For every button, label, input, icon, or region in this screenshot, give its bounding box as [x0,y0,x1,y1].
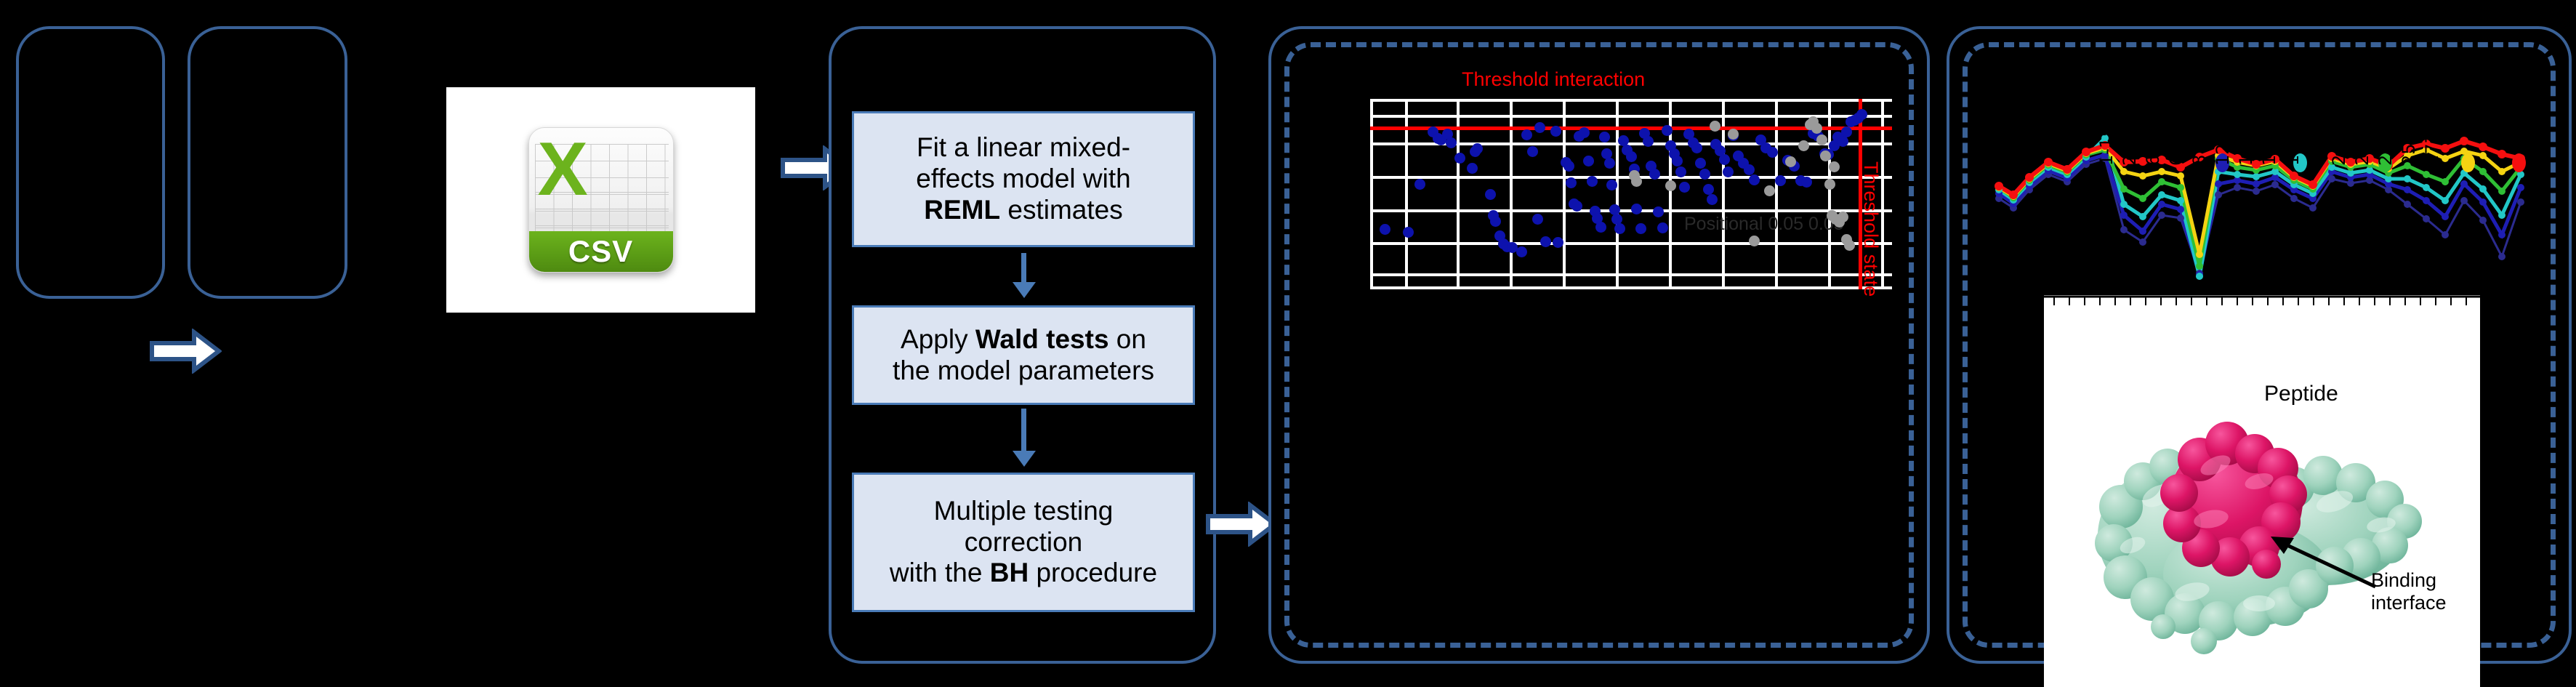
scatter-plot-area: Positional 0.05 0.05 [1370,99,1892,289]
line-marker [2479,168,2487,175]
peptide-tick-label: 241-257 [2375,93,2396,166]
step-bh-label: Multiple testingcorrectionwith the BH pr… [890,496,1157,590]
scatter-point [1749,174,1760,185]
line-marker [2044,158,2053,166]
peptide-tick-label: 167-180 [2282,93,2303,166]
line-marker [2253,180,2260,188]
volcano-plot: Threshold interaction Positional 0.05 0.… [1268,26,1930,664]
scatter-point [1635,223,1646,234]
line-marker [2120,168,2128,175]
scatter-point [1785,156,1796,167]
line-marker [2479,142,2487,151]
line-marker [2290,172,2298,180]
line-marker [2158,212,2165,219]
line-marker [2120,212,2128,219]
scatter-point [1446,137,1457,148]
connector-wald-to-bh [1021,409,1026,452]
binding-interface-line2: interface [2371,592,2447,614]
line-marker [2517,184,2524,191]
line-marker [2177,206,2184,213]
line-marker [2177,172,2184,180]
peptide-tick-label: 135-144 [2236,93,2256,166]
line-marker [2442,197,2449,204]
peptide-tick-label: 67-75 [2166,115,2186,166]
line-marker [2498,212,2505,219]
scatter-point [1566,177,1577,188]
csv-label: CSV [568,234,633,269]
scatter-point [1550,126,1561,137]
scatter-point [1841,126,1852,137]
line-marker [2309,204,2317,212]
line-marker [2404,201,2411,208]
scatter-faint-text: Positional 0.05 0.05 [1684,214,1844,235]
line-marker [2215,180,2222,188]
step-wald-box[interactable]: Apply Wald tests onthe model parameters [852,305,1195,405]
line-marker [2139,213,2146,220]
scatter-point [1534,122,1545,133]
peptide-tick-label: 200-214 [2329,93,2349,166]
step-wald-label: Apply Wald tests onthe model parameters [893,324,1154,387]
csv-label-band: CSV [529,231,673,272]
csv-file-icon: X CSV [528,127,674,273]
panel-csv [188,26,347,299]
line-marker [2442,231,2449,238]
scatter-point [1719,154,1730,165]
line-marker [2158,201,2165,208]
scatter-point [1472,143,1483,154]
gridline-h [1370,99,1892,102]
scatter-point [1672,156,1683,166]
scatter-point [1485,189,1496,200]
connector-reml-to-wald [1021,253,1026,284]
scatter-point [1490,216,1501,227]
line-marker [2442,155,2449,162]
threshold-interaction-label: Threshold interaction [1462,68,1645,91]
scatter-point [1653,206,1664,217]
line-marker [2498,253,2505,260]
line-marker [2479,152,2487,159]
line-marker [2442,178,2449,185]
binding-interface-annotation: Binding interface [2371,569,2447,614]
scatter-point [1583,156,1594,166]
line-marker [2253,173,2260,180]
scatter-point [1662,125,1673,136]
line-marker [2234,184,2241,191]
line-marker [2120,226,2128,233]
line-marker [2177,184,2184,191]
arrow-to-csv [149,329,222,374]
line-marker [2158,178,2165,185]
peptide-tick-label: 258-266 [2399,93,2419,166]
excel-x-icon: X [538,134,588,206]
scatter-point [1710,121,1720,132]
scatter-point [1838,136,1848,147]
line-marker [2009,190,2018,199]
scatter-point [1691,142,1702,153]
line-marker [2460,137,2468,145]
line-marker [2139,228,2146,235]
scatter-point [1816,134,1827,145]
panel-input [16,26,165,299]
line-marker [2328,175,2335,182]
line-marker [2404,186,2411,193]
scatter-point [1744,164,1755,175]
scatter-point [1604,158,1615,169]
line-marker [2479,198,2487,206]
scatter-point [1767,147,1778,158]
arrow-model-to-results [1205,502,1278,547]
line-marker [2498,231,2505,238]
scatter-point [1414,179,1425,190]
line-marker [2423,197,2430,204]
line-marker [2120,201,2128,208]
scatter-point [1579,127,1590,138]
scatter-point [1643,136,1654,147]
line-marker [2423,184,2430,191]
line-marker [2423,171,2430,178]
scatter-point [1527,146,1538,157]
line-marker [2139,172,2146,180]
scatter-point [1521,129,1532,140]
scatter-point [1665,180,1676,191]
scatter-point [1679,182,1690,193]
scatter-point [1657,222,1668,233]
peptide-tick-label: 277-284 [2422,93,2442,166]
line-marker [2460,180,2468,188]
line-marker [2025,173,2034,182]
line-marker [2498,188,2505,195]
scatter-point [1532,214,1543,225]
line-marker [2423,215,2430,222]
line-marker [2196,273,2203,280]
line-marker [2158,191,2165,198]
scatter-point [1703,184,1714,195]
scatter-point [1467,163,1478,174]
protein-structure-image [2076,409,2454,659]
line-marker [2497,150,2506,158]
threshold-state-label: Threshold state [1859,161,1882,297]
step-reml-label: Fit a linear mixed-effects model withREM… [916,132,1130,226]
binding-interface-line1: Binding [2371,569,2447,592]
line-marker [2158,168,2165,175]
scatter-point [1571,201,1582,212]
line-marker [2498,168,2505,175]
scatter-point [1764,185,1775,196]
scatter-point [1540,236,1551,247]
peptide-tick-label: 184-199 [2306,93,2326,166]
scatter-point [1829,161,1840,172]
scatter-point [1587,176,1598,187]
line-marker [2139,195,2146,202]
scatter-point [1749,236,1760,246]
scatter-point [1695,158,1706,169]
line-marker [2309,180,2317,189]
line-marker [2442,213,2449,220]
scatter-point [1838,212,1848,222]
line-marker [2082,148,2090,156]
scatter-point [1811,123,1822,134]
line-marker [2479,185,2487,193]
gridline-h [1370,286,1892,289]
line-marker [2234,171,2241,178]
peptide-tick-label: 28-44 [2120,115,2140,166]
line-marker [2196,251,2203,258]
step-reml-box[interactable]: Fit a linear mixed-effects model withREM… [852,111,1195,247]
csv-file-card: X CSV [446,87,755,313]
peptide-tick-label: 218-237 [2352,93,2372,166]
scatter-point [1599,132,1610,142]
peptide-tick-label: 81-101 [2189,104,2210,166]
line-marker [2120,185,2128,193]
scatter-point [1631,204,1642,214]
scatter-point [1707,194,1718,205]
line-marker [1995,182,2003,190]
step-bh-box[interactable]: Multiple testingcorrectionwith the BH pr… [852,473,1195,612]
line-marker [2177,197,2184,204]
scatter-point [1844,240,1855,251]
peptide-tick-label: 1-15 [2096,126,2117,166]
scatter-point [1631,176,1642,187]
gridline-h [1370,242,1892,245]
scatter-point [1606,180,1617,190]
scatter-point [1675,166,1686,177]
line-marker [2290,195,2298,202]
line-marker [2139,238,2146,246]
line-marker [2517,198,2524,206]
line-marker [2253,188,2260,195]
scatter-point [1798,140,1809,151]
scatter-point [1601,148,1612,159]
peptide-x-axis [2044,294,2480,308]
scatter-point [1699,169,1710,180]
scatter-point [1614,223,1625,234]
scatter-point [1820,150,1831,161]
line-marker [2404,175,2411,182]
scatter-point [1775,175,1786,186]
y-axis-tick-label: 0.0 [1993,284,2024,308]
scatter-point [1595,222,1606,233]
line-marker [2460,197,2468,204]
peptide-tick-label: 158-166 [2259,93,2279,166]
scatter-point [1856,109,1867,120]
peptide-tick-label: 122-129 [2213,93,2233,166]
scatter-point [1380,224,1390,235]
line-marker [2177,214,2184,222]
scatter-point [1403,227,1414,238]
scatter-point [1563,161,1574,172]
scatter-point [1801,177,1812,188]
scatter-point [1516,246,1527,257]
legend-dot-red [2512,153,2526,172]
x-axis-title: Peptide [2264,382,2338,406]
legend-dot-yellow [2461,153,2475,172]
scatter-point [1626,151,1637,162]
line-marker [2271,181,2279,188]
scatter-point [1824,179,1835,190]
scatter-point [1454,153,1465,164]
line-marker [2063,165,2072,174]
line-marker [2215,191,2222,198]
line-marker [2479,217,2487,224]
line-marker [2196,262,2203,270]
gridline-h [1370,273,1892,276]
peptide-tick-label: 63-73 [2143,115,2163,166]
scatter-point [1723,166,1734,177]
